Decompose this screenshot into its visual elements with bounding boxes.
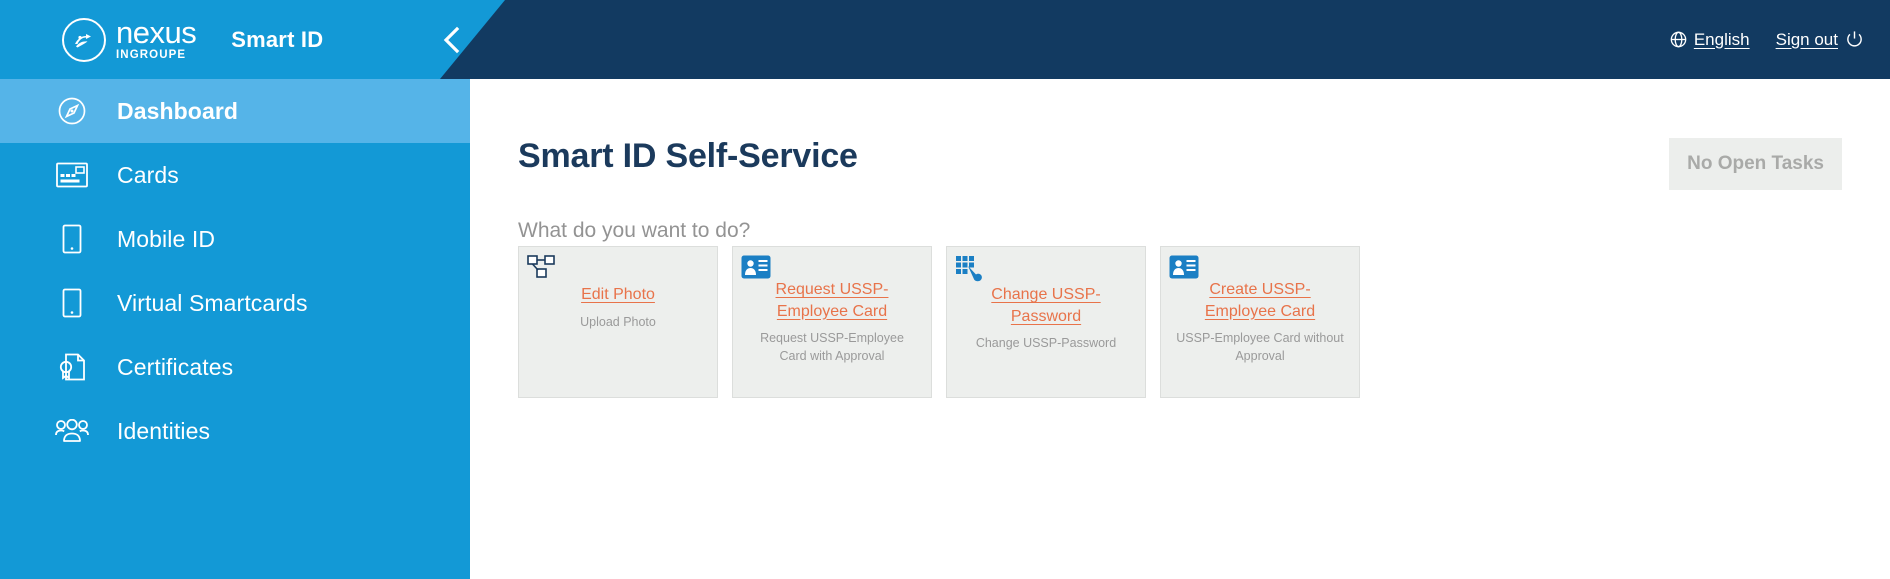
phone-icon — [55, 222, 89, 256]
power-icon — [1845, 30, 1864, 49]
open-tasks-badge[interactable]: No Open Tasks — [1669, 138, 1842, 190]
people-icon — [55, 414, 89, 448]
sidebar-item-identities[interactable]: Identities — [0, 399, 470, 463]
sidebar-item-label: Cards — [117, 162, 179, 189]
action-card-title[interactable]: Change USSP-Password — [962, 284, 1130, 327]
action-card-title[interactable]: Create USSP-Employee Card — [1176, 279, 1344, 322]
language-label: English — [1694, 30, 1750, 50]
sidebar-item-certificates[interactable]: Certificates — [0, 335, 470, 399]
sign-out-label: Sign out — [1776, 30, 1838, 50]
language-selector[interactable]: English — [1670, 30, 1750, 50]
sidebar-item-dashboard[interactable]: Dashboard — [0, 79, 470, 143]
action-card-request-ussp-employee-card[interactable]: Request USSP-Employee Card Request USSP-… — [732, 246, 932, 398]
action-card-description: Request USSP-Employee Card with Approval — [746, 330, 918, 365]
logo-name: nexus — [116, 17, 196, 48]
workflow-node-icon — [527, 255, 557, 285]
sidebar-item-label: Virtual Smartcards — [117, 290, 308, 317]
action-card-title[interactable]: Edit Photo — [534, 284, 702, 306]
action-card-description: Upload Photo — [532, 314, 704, 332]
action-prompt: What do you want to do? — [518, 219, 750, 243]
page-title: Smart ID Self-Service — [518, 137, 858, 176]
app-root: nexus INGROUPE Smart ID English — [0, 0, 1890, 579]
pinpad-hand-icon — [955, 255, 985, 285]
header-actions: English Sign out — [1670, 0, 1864, 79]
id-badge-icon — [1169, 255, 1199, 285]
phone-icon — [55, 286, 89, 320]
main-content: Smart ID Self-Service No Open Tasks What… — [470, 79, 1890, 579]
action-card-edit-photo[interactable]: Edit Photo Upload Photo — [518, 246, 718, 398]
nexus-lizard-logo-icon — [62, 18, 106, 62]
brand-block: nexus INGROUPE Smart ID — [0, 0, 323, 79]
sidebar-item-label: Identities — [117, 418, 210, 445]
sidebar-item-label: Certificates — [117, 354, 233, 381]
action-card-create-ussp-employee-card[interactable]: Create USSP-Employee Card USSP-Employee … — [1160, 246, 1360, 398]
id-badge-icon — [741, 255, 771, 285]
action-card-description: Change USSP-Password — [960, 335, 1132, 353]
logo-subtitle: INGROUPE — [116, 50, 196, 62]
globe-icon — [1670, 31, 1687, 48]
sidebar-item-mobile-id[interactable]: Mobile ID — [0, 207, 470, 271]
sidebar-collapse-button[interactable] — [430, 18, 474, 62]
app-header: nexus INGROUPE Smart ID English — [0, 0, 1890, 79]
chevron-left-icon — [442, 25, 462, 55]
action-card-grid: Edit Photo Upload Photo Request USSP-Emp… — [518, 246, 1360, 398]
sidebar-item-virtual-smartcards[interactable]: Virtual Smartcards — [0, 271, 470, 335]
card-icon — [55, 158, 89, 192]
app-title: Smart ID — [231, 27, 323, 53]
sidebar-item-label: Mobile ID — [117, 226, 215, 253]
sign-out-button[interactable]: Sign out — [1776, 30, 1864, 50]
sidebar-nav: Dashboard Cards — [0, 79, 470, 579]
sidebar-item-label: Dashboard — [117, 98, 238, 125]
action-card-change-ussp-password[interactable]: Change USSP-Password Change USSP-Passwor… — [946, 246, 1146, 398]
sidebar-item-cards[interactable]: Cards — [0, 143, 470, 207]
action-card-description: USSP-Employee Card without Approval — [1174, 330, 1346, 365]
certificate-icon — [55, 350, 89, 384]
logo-wordmark: nexus INGROUPE — [116, 17, 196, 62]
action-card-title[interactable]: Request USSP-Employee Card — [748, 279, 916, 322]
compass-icon — [55, 94, 89, 128]
